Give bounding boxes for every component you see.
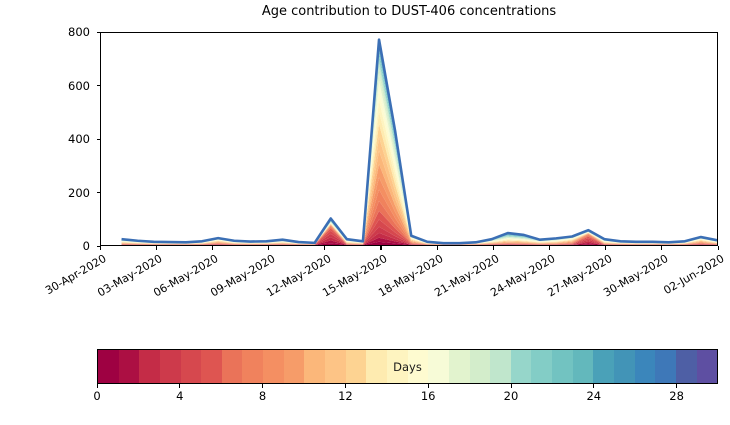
x-tick-mark <box>212 246 213 250</box>
age-band-area <box>122 190 717 245</box>
colorbar-segment <box>98 350 119 383</box>
colorbar-segment <box>511 350 532 383</box>
age-band-area <box>122 100 717 244</box>
y-tick-label: 200 <box>54 186 90 200</box>
x-tick-mark <box>605 246 606 250</box>
age-band-area <box>122 73 717 244</box>
colorbar-segment <box>139 350 160 383</box>
chart-title: Age contribution to DUST-406 concentrati… <box>100 4 718 19</box>
total-outline-line <box>122 40 717 244</box>
age-band-area <box>122 42 717 243</box>
colorbar-segment <box>676 350 697 383</box>
x-tick-mark <box>718 246 719 250</box>
age-band-area <box>122 54 717 244</box>
y-tick-label: 600 <box>54 79 90 93</box>
colorbar-tick-label: 12 <box>338 389 353 403</box>
y-tick-label: 800 <box>54 25 90 39</box>
age-band-area <box>122 45 717 243</box>
colorbar[interactable] <box>97 349 718 384</box>
colorbar-segment <box>160 350 181 383</box>
colorbar-segment <box>552 350 573 383</box>
colorbar-segment <box>614 350 635 383</box>
colorbar-tick-mark <box>345 384 346 388</box>
age-band-area <box>122 44 717 244</box>
age-band-area <box>122 137 717 244</box>
colorbar-segment <box>635 350 656 383</box>
x-tick-mark <box>156 246 157 250</box>
colorbar-tick-label: 8 <box>259 389 266 403</box>
age-band-area <box>122 47 717 243</box>
colorbar-tick-mark <box>676 384 677 388</box>
x-tick-mark <box>493 246 494 250</box>
colorbar-segment <box>346 350 367 383</box>
colorbar-tick-mark <box>511 384 512 388</box>
colorbar-tick-label: 0 <box>93 389 100 403</box>
figure-canvas: Age contribution to DUST-406 concentrati… <box>0 0 730 425</box>
age-band-area <box>122 67 717 244</box>
colorbar-tick-mark <box>262 384 263 388</box>
colorbar-segment <box>428 350 449 383</box>
x-tick-mark <box>100 246 101 250</box>
x-tick-mark <box>268 246 269 250</box>
colorbar-segment <box>573 350 594 383</box>
y-tick-label: 0 <box>54 239 90 253</box>
age-band-area <box>122 49 717 244</box>
colorbar-segment <box>470 350 491 383</box>
colorbar-segment <box>222 350 243 383</box>
age-band-area <box>122 81 717 244</box>
age-band-area <box>122 41 717 243</box>
y-tick-label: 400 <box>54 132 90 146</box>
x-tick-mark <box>661 246 662 250</box>
colorbar-tick-mark <box>179 384 180 388</box>
x-tick-mark <box>437 246 438 250</box>
colorbar-tick-label: 28 <box>669 389 684 403</box>
age-band-area <box>122 177 717 244</box>
colorbar-segment <box>697 350 718 383</box>
x-tick-mark <box>380 246 381 250</box>
age-band-area <box>122 57 717 243</box>
colorbar-segment <box>181 350 202 383</box>
age-band-area <box>122 151 717 245</box>
colorbar-segment <box>449 350 470 383</box>
colorbar-tick-mark <box>593 384 594 388</box>
colorbar-segment <box>531 350 552 383</box>
colorbar-segment <box>490 350 511 383</box>
colorbar-segment <box>242 350 263 383</box>
age-band-area <box>122 51 717 243</box>
age-band-area <box>122 40 717 244</box>
colorbar-segment <box>408 350 429 383</box>
age-band-area <box>122 111 717 244</box>
colorbar-segment <box>366 350 387 383</box>
age-band-area <box>122 164 717 244</box>
colorbar-tick-mark <box>428 384 429 388</box>
colorbar-tick-mark <box>97 384 98 388</box>
plot-area <box>100 32 718 246</box>
colorbar-segment <box>304 350 325 383</box>
colorbar-tick-label: 20 <box>504 389 519 403</box>
colorbar-tick-label: 16 <box>421 389 436 403</box>
x-tick-mark <box>549 246 550 250</box>
colorbar-segment <box>119 350 140 383</box>
stacked-area-series <box>101 33 717 245</box>
colorbar-segment <box>593 350 614 383</box>
colorbar-segment <box>387 350 408 383</box>
colorbar-tick-label: 4 <box>176 389 183 403</box>
colorbar-segment <box>284 350 305 383</box>
x-tick-mark <box>324 246 325 250</box>
colorbar-segment <box>201 350 222 383</box>
colorbar-segment <box>655 350 676 383</box>
colorbar-segment <box>263 350 284 383</box>
colorbar-segment <box>325 350 346 383</box>
age-band-area <box>122 124 717 244</box>
age-band-area <box>122 61 717 243</box>
age-band-area <box>122 90 717 244</box>
colorbar-tick-label: 24 <box>586 389 601 403</box>
